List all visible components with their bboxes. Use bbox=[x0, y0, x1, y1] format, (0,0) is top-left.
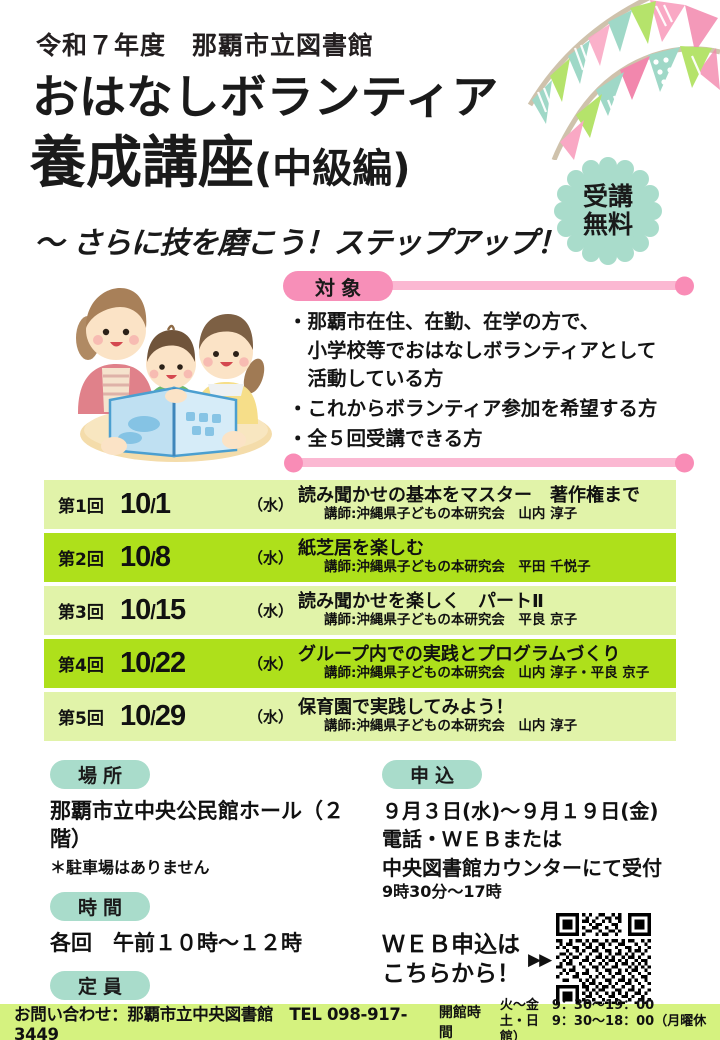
bunting-decoration bbox=[480, 0, 720, 160]
poster-root: 令和７年度 那覇市立図書館 おはなしボランティア 養成講座(中級編) ～ さらに… bbox=[0, 0, 720, 1040]
venue-label-pill: 場所 bbox=[50, 760, 150, 789]
session-title: 読み聞かせの基本をマスター 著作権まで bbox=[298, 485, 676, 506]
table-row: 第2回 10/8 （水） 紙芝居を楽しむ 講師:沖縄県子どもの本研究会 平田 千… bbox=[44, 533, 676, 582]
session-title: グループ内での実践とプログラムづくり bbox=[298, 644, 676, 665]
free-badge-line2: 無料 bbox=[583, 212, 633, 238]
session-number: 第4回 bbox=[58, 651, 120, 676]
session-month: 10 bbox=[120, 700, 150, 732]
session-title: 保育園で実践してみよう！ bbox=[298, 697, 676, 718]
table-row: 第1回 10/1 （水） 読み聞かせの基本をマスター 著作権まで 講師:沖縄県子… bbox=[44, 480, 676, 529]
footer-bar: お問い合わせ：那覇市立中央図書館 TEL 098-917-3449 開館時間 火… bbox=[0, 1004, 720, 1040]
session-month: 10 bbox=[120, 541, 150, 573]
web-apply-cta-line1: ＷＥＢ申込は bbox=[382, 931, 520, 961]
apply-label-pill: 申込 bbox=[382, 760, 482, 789]
session-date: 10/8 bbox=[120, 541, 248, 574]
session-body: 紙芝居を楽しむ 講師:沖縄県子どもの本研究会 平田 千悦子 bbox=[292, 538, 676, 577]
session-title: 紙芝居を楽しむ bbox=[298, 538, 676, 559]
session-dayofweek: （水） bbox=[248, 547, 292, 568]
session-body: 読み聞かせの基本をマスター 著作権まで 講師:沖縄県子どもの本研究会 山内 淳子 bbox=[292, 485, 676, 524]
session-day: 1 bbox=[155, 488, 170, 520]
table-row: 第3回 10/15 （水） 読み聞かせを楽しく パートⅡ 講師:沖縄県子どもの本… bbox=[44, 586, 676, 635]
time-text: 各回 午前１０時～１２時 bbox=[50, 929, 370, 957]
apply-hours: 9時30分～17時 bbox=[382, 882, 702, 903]
session-date: 10/1 bbox=[120, 488, 248, 521]
footer-hours: 火～金 9：30～19：00 土・日 9：30～18：00（月曜休館） bbox=[500, 998, 720, 1040]
session-day: 29 bbox=[155, 700, 185, 732]
session-date: 10/15 bbox=[120, 594, 248, 627]
free-badge: 受講 無料 bbox=[552, 155, 664, 267]
info-column-left: 場所 那覇市立中央公民館ホール（２階） ＊駐車場はありません 時間 各回 午前１… bbox=[50, 760, 370, 1036]
poster-title-sub: (中級編) bbox=[254, 146, 411, 192]
info-column-right: 申込 ９月３日(水)～９月１９日(金) 電話・ＷＥＢまたは 中央図書館カウンター… bbox=[382, 760, 702, 1008]
session-lecturer: 講師:沖縄県子どもの本研究会 山内 淳子 bbox=[298, 718, 676, 736]
session-number: 第3回 bbox=[58, 598, 120, 623]
session-dayofweek: （水） bbox=[248, 653, 292, 674]
session-lecturer: 講師:沖縄県子どもの本研究会 平田 千悦子 bbox=[298, 559, 676, 577]
footer-hours-line2: 土・日 9：30～18：00（月曜休館） bbox=[500, 1014, 720, 1040]
session-day: 8 bbox=[155, 541, 170, 573]
qr-code[interactable] bbox=[556, 913, 651, 1008]
schedule-table: 第1回 10/1 （水） 読み聞かせの基本をマスター 著作権まで 講師:沖縄県子… bbox=[44, 480, 676, 745]
session-number: 第1回 bbox=[58, 492, 120, 517]
capacity-label-pill: 定員 bbox=[50, 971, 150, 1000]
target-label-pill: 対象 bbox=[283, 271, 393, 301]
apply-period: ９月３日(水)～９月１９日(金) bbox=[382, 797, 702, 825]
session-body: グループ内での実践とプログラムづくり 講師:沖縄県子どもの本研究会 山内 淳子・… bbox=[292, 644, 676, 683]
session-date: 10/29 bbox=[120, 700, 248, 733]
double-arrow-right-icon: ▶▶ bbox=[528, 950, 550, 970]
web-apply-row[interactable]: ＷＥＢ申込は こちらから！ ▶▶ bbox=[382, 913, 702, 1008]
session-number: 第5回 bbox=[58, 704, 120, 729]
poster-title-line2: 養成講座(中級編) bbox=[30, 136, 411, 192]
reading-illustration bbox=[58, 272, 286, 468]
target-list: ・那覇市在住、在勤、在学の方で、 小学校等でおはなしボランティアとして 活動して… bbox=[288, 308, 708, 454]
target-item: ・これからボランティア参加を希望する方 bbox=[288, 395, 708, 424]
session-month: 10 bbox=[120, 488, 150, 520]
session-day: 22 bbox=[155, 647, 185, 679]
session-dayofweek: （水） bbox=[248, 706, 292, 727]
footer-hours-line1: 火～金 9：30～19：00 bbox=[500, 998, 720, 1014]
session-body: 保育園で実践してみよう！ 講師:沖縄県子どもの本研究会 山内 淳子 bbox=[292, 697, 676, 736]
session-month: 10 bbox=[120, 647, 150, 679]
session-lecturer: 講師:沖縄県子どもの本研究会 山内 淳子 bbox=[298, 506, 676, 524]
session-dayofweek: （水） bbox=[248, 600, 292, 621]
venue-note: ＊駐車場はありません bbox=[50, 854, 370, 878]
apply-method-line2: 中央図書館カウンターにて受付 bbox=[382, 854, 702, 882]
session-day: 15 bbox=[155, 594, 185, 626]
session-lecturer: 講師:沖縄県子どもの本研究会 山内 淳子・平良 京子 bbox=[298, 665, 676, 683]
footer-hours-label: 開館時間 bbox=[439, 1002, 492, 1040]
session-month: 10 bbox=[120, 594, 150, 626]
table-row: 第4回 10/22 （水） グループ内での実践とプログラムづくり 講師:沖縄県子… bbox=[44, 639, 676, 688]
footer-contact: お問い合わせ：那覇市立中央図書館 TEL 098-917-3449 bbox=[14, 1001, 429, 1040]
session-title: 読み聞かせを楽しく パートⅡ bbox=[298, 591, 676, 612]
poster-subtitle: ～ さらに技を磨こう！ステップアップ！～ bbox=[34, 218, 594, 262]
session-date: 10/22 bbox=[120, 647, 248, 680]
poster-title-main: 養成講座 bbox=[30, 131, 254, 196]
poster-eyebrow: 令和７年度 那覇市立図書館 bbox=[36, 26, 374, 62]
session-number: 第2回 bbox=[58, 545, 120, 570]
venue-text: 那覇市立中央公民館ホール（２階） bbox=[50, 797, 370, 854]
apply-method-line1: 電話・ＷＥＢまたは bbox=[382, 825, 702, 853]
session-lecturer: 講師:沖縄県子どもの本研究会 平良 京子 bbox=[298, 612, 676, 630]
target-item: ・那覇市在住、在勤、在学の方で、 小学校等でおはなしボランティアとして 活動して… bbox=[288, 308, 708, 394]
session-body: 読み聞かせを楽しく パートⅡ 講師:沖縄県子どもの本研究会 平良 京子 bbox=[292, 591, 676, 630]
free-badge-line1: 受講 bbox=[583, 184, 633, 210]
web-apply-cta: ＷＥＢ申込は こちらから！ bbox=[382, 931, 520, 991]
table-row: 第5回 10/29 （水） 保育園で実践してみよう！ 講師:沖縄県子どもの本研究… bbox=[44, 692, 676, 741]
web-apply-cta-line2: こちらから！ bbox=[382, 960, 520, 990]
target-item: ・全５回受講できる方 bbox=[288, 425, 708, 454]
target-rule-bottom bbox=[288, 458, 690, 467]
time-label-pill: 時間 bbox=[50, 892, 150, 921]
session-dayofweek: （水） bbox=[248, 494, 292, 515]
poster-title-line1: おはなしボランティア bbox=[32, 74, 498, 120]
